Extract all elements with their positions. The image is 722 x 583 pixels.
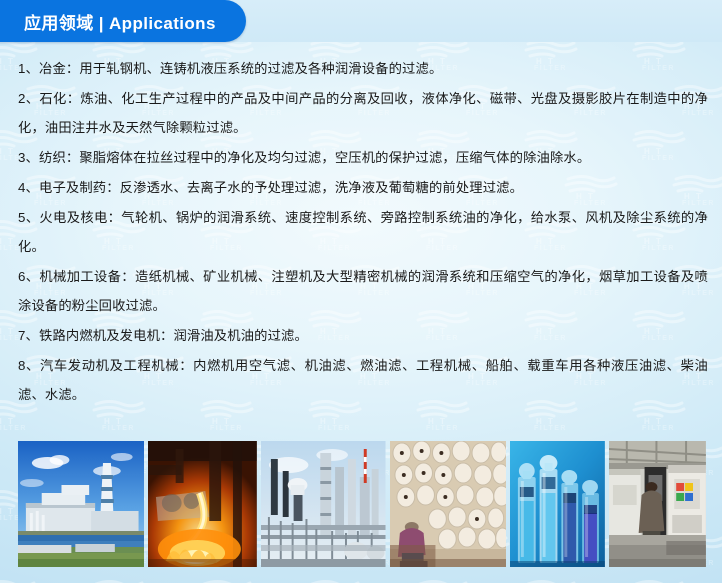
- svg-text:H T: H T: [536, 417, 555, 426]
- applications-page: H TFILTERH TFILTERH TFILTERH TFILTERH TF…: [0, 0, 722, 583]
- lab-glassware-photo: [510, 441, 605, 567]
- brand-watermark: H TFILTER: [0, 576, 54, 583]
- application-item-8: 8、汽车发动机及工程机械：内燃机用空气滤、机油滤、燃油滤、工程机械、船舶、载重车…: [18, 351, 708, 409]
- textile-spinning-photo: [390, 441, 507, 567]
- svg-text:H T: H T: [0, 237, 15, 246]
- page-title-pill: 应用领域 | Applications: [0, 0, 246, 42]
- power-plant-photo: [18, 441, 144, 567]
- application-item-6: 6、机械加工设备：造纸机械、矿业机械、注塑机及大型精密机械的润滑系统和压缩空气的…: [18, 262, 708, 320]
- svg-text:FILTER: FILTER: [210, 425, 243, 430]
- cnc-machining-photo: [609, 441, 706, 567]
- steel-mill-photo: [148, 441, 257, 567]
- brand-watermark: H TFILTER: [196, 576, 270, 583]
- brand-watermark: H TFILTER: [412, 576, 486, 583]
- application-item-5: 5、火电及核电：气轮机、锅炉的润滑系统、速度控制系统、旁路控制系统油的净化，给水…: [18, 203, 708, 261]
- svg-text:H T: H T: [428, 417, 447, 426]
- application-item-4: 4、电子及制药：反渗透水、去离子水的予处理过滤，洗净液及葡萄糖的前处理过滤。: [18, 173, 708, 202]
- brand-watermark: H TFILTER: [88, 576, 162, 583]
- applications-list: 1、冶金：用于轧钢机、连铸机液压系统的过滤及各种润滑设备的过滤。 2、石化：炼油…: [18, 54, 708, 410]
- brand-watermark: H TFILTER: [520, 576, 594, 583]
- application-item-2: 2、石化：炼油、化工生产过程中的产品及中间产品的分离及回收，液体净化、磁带、光盘…: [18, 84, 708, 142]
- svg-text:H T: H T: [0, 327, 15, 336]
- svg-text:FILTER: FILTER: [642, 425, 675, 430]
- svg-text:H T: H T: [0, 417, 15, 426]
- svg-text:FILTER: FILTER: [102, 425, 135, 430]
- svg-text:H T: H T: [212, 417, 231, 426]
- brand-watermark: H TFILTER: [628, 576, 702, 583]
- svg-text:FILTER: FILTER: [534, 425, 567, 430]
- svg-text:FILTER: FILTER: [426, 425, 459, 430]
- svg-text:H T: H T: [320, 417, 339, 426]
- application-photo-strip: [18, 441, 706, 567]
- svg-text:H T: H T: [0, 57, 15, 66]
- application-item-3: 3、纺织：聚脂熔体在拉丝过程中的净化及均匀过滤，空压机的保护过滤，压缩气体的除油…: [18, 143, 708, 172]
- svg-text:H T: H T: [0, 507, 15, 516]
- svg-text:H T: H T: [644, 417, 663, 426]
- page-title: 应用领域 | Applications: [24, 9, 216, 34]
- svg-text:FILTER: FILTER: [0, 425, 27, 430]
- brand-watermark: H TFILTER: [304, 576, 378, 583]
- refinery-photo: [261, 441, 386, 567]
- svg-text:H T: H T: [0, 147, 15, 156]
- application-item-7: 7、铁路内燃机及发电机：润滑油及机油的过滤。: [18, 321, 708, 350]
- svg-text:H T: H T: [104, 417, 123, 426]
- svg-text:FILTER: FILTER: [318, 425, 351, 430]
- application-item-1: 1、冶金：用于轧钢机、连铸机液压系统的过滤及各种润滑设备的过滤。: [18, 54, 708, 83]
- header-band: 应用领域 | Applications: [0, 0, 722, 42]
